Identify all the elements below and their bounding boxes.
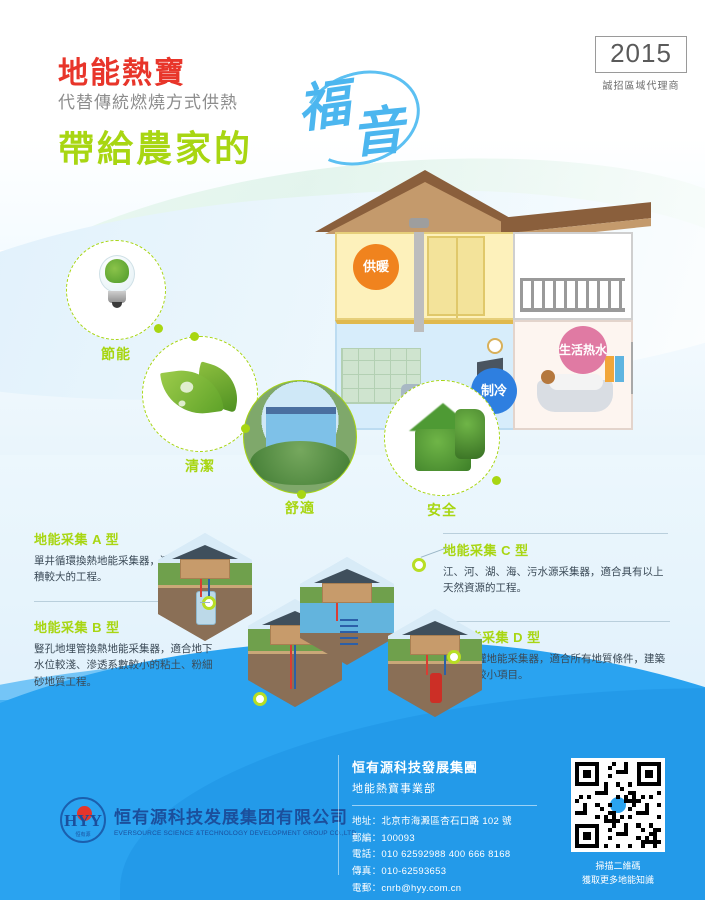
bather-icon: [541, 370, 555, 384]
poster-root: 地能熱寶 代替傳統燃燒方式供熱 帶給農家的 福 音 2015 誠招區域代理商: [0, 0, 705, 900]
hex-illustrations: [150, 525, 445, 715]
page-tagline: 帶給農家的: [58, 120, 253, 172]
logo-name-cn: 恒有源科技发展集团有限公司: [114, 803, 358, 828]
wardrobe-icon: [427, 236, 485, 316]
calligraphy-gospel: 福 音: [293, 54, 423, 159]
qr-caption-line2: 獲取更多地能知識: [571, 873, 665, 887]
logo-mark-icon: HYY 恒有源: [60, 797, 106, 843]
type-desc: 蓄能罐地能采集器，適合所有地質條件，建築面積較小項目。: [455, 651, 673, 684]
lightbulb-plant-icon: [95, 255, 139, 309]
type-card-d: 地能采集 D 型 蓄能罐地能采集器，適合所有地質條件，建築面積較小項目。: [455, 627, 673, 684]
qr-code-icon[interactable]: [571, 758, 665, 852]
towel-orange-icon: [605, 356, 614, 382]
clock-icon: [487, 338, 503, 354]
hex-house-roof-icon: [402, 621, 468, 635]
hex-house-body-icon: [180, 559, 230, 579]
hex-house-roof-icon: [314, 569, 380, 583]
feature-clean: 清潔: [142, 336, 258, 480]
bulb-tree-icon: [105, 259, 129, 283]
feature-circle: [384, 380, 500, 496]
pipe-hot-icon: [200, 579, 202, 597]
pipe-cold-icon: [444, 655, 446, 675]
bath-foam-icon: [549, 374, 603, 390]
contact-company: 恒有源科技發展集團: [352, 757, 552, 776]
contact-zipcode: 郵編：100093: [352, 831, 552, 848]
pipe-cold-icon: [208, 579, 210, 597]
type-card-c: 地能采集 C 型 江、河、湖、海、污水源采集器，適合具有以上天然資源的工程。: [443, 540, 673, 597]
bulb-tip-icon: [112, 302, 122, 308]
page-title: 地能熱寶: [58, 48, 186, 92]
contact-rule: [352, 805, 537, 806]
logo-name-en: EVERSOURCE SCIENCE &TECHNOLOGY DEVELOPME…: [114, 830, 358, 837]
chimney-icon: [414, 232, 424, 332]
hex-house-roof-icon: [172, 545, 238, 559]
badge-hot-water: 生活热水: [559, 326, 607, 374]
feature-dot-left: [241, 424, 250, 433]
qr-caption: 掃描二維碼 獲取更多地能知識: [571, 859, 665, 888]
feature-dot-top: [190, 332, 199, 341]
qr-finder-bl: [575, 824, 599, 848]
qr-finder-tr: [637, 762, 661, 786]
borehole-pipe-hot-icon: [290, 645, 292, 689]
connector-line-a: [200, 602, 210, 603]
chimney-cap-icon: [409, 218, 429, 228]
logo-initials: HYY: [62, 811, 104, 831]
contact-address: 地址：北京市海澱區杏石口路 102 號: [352, 814, 552, 831]
feature-label: 清潔: [142, 456, 258, 476]
borehole-pipe-cold-icon: [294, 645, 296, 689]
feature-circle: [243, 380, 357, 494]
contact-division: 地能熱寶事業部: [352, 780, 552, 796]
type-title: 地能采集 C 型: [443, 540, 673, 559]
connector-node-a: [202, 596, 216, 610]
hex-type-a: [158, 533, 252, 641]
calligraphy-char-2: 音: [347, 87, 407, 167]
logo-mark-sub: 恒有源: [62, 831, 104, 838]
type-desc: 江、河、湖、海、污水源采集器，適合具有以上天然資源的工程。: [443, 564, 673, 597]
connector-node-c: [412, 558, 426, 572]
feature-comfort: 舒適: [243, 380, 357, 520]
connector-node-b: [253, 692, 267, 706]
calligraphy-char-1: 福: [292, 61, 354, 143]
company-logo: HYY 恒有源 恒有源科技发展集团有限公司 EVERSOURCE SCIENCE…: [60, 797, 358, 843]
qr-block: 掃描二維碼 獲取更多地能知識: [571, 758, 665, 888]
badge-heating: 供暖: [353, 244, 399, 290]
contact-block: 恒有源科技發展集團 地能熱寶事業部 地址：北京市海澱區杏石口路 102 號 郵編…: [352, 757, 552, 897]
storage-tank-icon: [430, 673, 442, 703]
page-subtitle: 代替傳統燃燒方式供熱: [58, 88, 238, 113]
footer-divider: [338, 755, 339, 875]
qr-finder-tl: [575, 762, 599, 786]
type-title: 地能采集 D 型: [455, 627, 673, 646]
agent-note: 誠招區域代理商: [595, 77, 687, 92]
pipe-hot-icon: [426, 655, 428, 675]
header: 地能熱寶 代替傳統燃燒方式供熱 帶給農家的 福 音 2015 誠招區域代理商: [0, 0, 705, 185]
year-label: 2015: [595, 36, 687, 73]
pipe-hot-icon: [336, 603, 338, 621]
waterdrop-small-icon: [178, 400, 186, 407]
qr-caption-line1: 掃描二維碼: [571, 859, 665, 873]
contact-email: 電郵：cnrb@hyy.com.cn: [352, 881, 552, 898]
water-coil-icon: [340, 619, 358, 645]
green-grass-house-icon: [401, 403, 485, 473]
year-badge: 2015 誠招區域代理商: [595, 36, 687, 92]
divider: [455, 621, 670, 622]
shower-icon: [631, 342, 633, 394]
divider: [443, 533, 668, 534]
hex-house-body-icon: [322, 583, 372, 603]
balcony-rail-icon: [520, 278, 625, 312]
logo-text: 恒有源科技发展集团有限公司 EVERSOURCE SCIENCE &TECHNO…: [114, 803, 358, 837]
feature-dot: [154, 324, 163, 333]
lawn-icon: [250, 441, 350, 485]
feature-safety: 安全: [384, 380, 500, 520]
contact-fax: 傳真：010-62593653: [352, 864, 552, 881]
towel-blue-icon: [615, 356, 624, 382]
feature-dot: [492, 476, 501, 485]
contact-phone: 電話：010 62592988 400 666 8168: [352, 847, 552, 864]
feature-circle: [66, 240, 166, 340]
grass-wing-icon: [455, 409, 485, 459]
feature-circle: [142, 336, 258, 452]
waterdrop-icon: [180, 381, 194, 394]
connector-node-d: [447, 650, 461, 664]
